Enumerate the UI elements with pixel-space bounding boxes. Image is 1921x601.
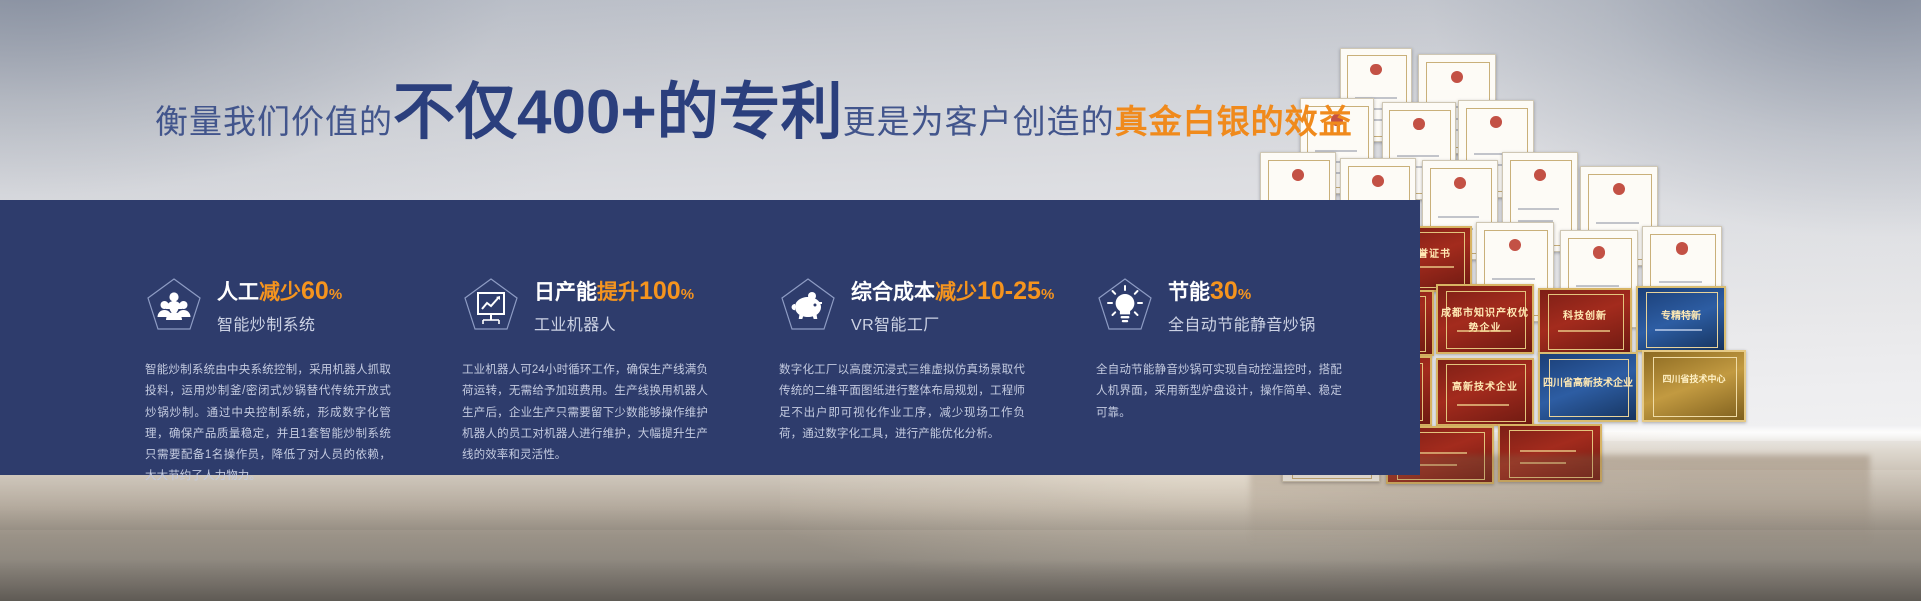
- feature-text: 综合成本减少10-25% VR智能工厂: [851, 275, 1054, 336]
- feature-subtitle: 全自动节能静音炒锅: [1168, 311, 1316, 335]
- feature-title: 人工减少60%: [217, 277, 342, 306]
- award-plaque: 成都市知识产权优势企业: [1436, 284, 1534, 354]
- headline-emphasis: 不仅400+的专利: [393, 78, 843, 147]
- feature-panel: 人工减少60% 智能炒制系统 智能炒制系统由中央系统控制，采用机器人抓取投料，运…: [0, 200, 1420, 475]
- feature-header: 节能30% 全自动节能静音炒锅: [1096, 268, 1351, 342]
- feature-title-prefix: 综合成本: [851, 281, 935, 304]
- feature-title-prefix: 节能: [1168, 281, 1210, 304]
- feature-title: 综合成本减少10-25%: [851, 277, 1054, 306]
- feature-header: 综合成本减少10-25% VR智能工厂: [779, 268, 1034, 342]
- headline-prefix: 衡量我们价值的: [155, 103, 393, 140]
- feature-title-unit: %: [329, 286, 342, 303]
- feature-subtitle: 工业机器人: [534, 311, 694, 335]
- feature-body: 智能炒制系统由中央系统控制，采用机器人抓取投料，运用炒制釜/密闭式炒锅替代传统开…: [145, 360, 391, 488]
- award-plaque: 高新技术企业: [1436, 358, 1534, 426]
- piggy-bank-icon: [779, 276, 837, 334]
- feature-text: 日产能提升100% 工业机器人: [534, 275, 694, 336]
- feature-title-number: 100: [639, 277, 681, 305]
- feature-item-cost: 综合成本减少10-25% VR智能工厂 数字化工厂以高度沉浸式三维虚拟仿真场景取…: [779, 200, 1034, 475]
- feature-item-labor: 人工减少60% 智能炒制系统 智能炒制系统由中央系统控制，采用机器人抓取投料，运…: [145, 200, 400, 475]
- feature-subtitle: VR智能工厂: [851, 311, 1054, 335]
- feature-header: 日产能提升100% 工业机器人: [462, 268, 717, 342]
- award-plaque: 科技创新: [1538, 288, 1632, 354]
- feature-title-unit: %: [681, 286, 694, 303]
- chart-board-icon: [462, 276, 520, 334]
- feature-list: 人工减少60% 智能炒制系统 智能炒制系统由中央系统控制，采用机器人抓取投料，运…: [145, 200, 1400, 475]
- feature-body: 全自动节能静音炒锅可实现自动控温控时，搭配人机界面，采用新型炉盘设计，操作简单、…: [1096, 360, 1342, 424]
- award-plaque: 专精特新: [1636, 286, 1726, 352]
- feature-title-highlight: 减少: [259, 281, 301, 304]
- bottom-shadow: [0, 560, 1921, 601]
- feature-title-number: 30: [1210, 277, 1238, 305]
- feature-item-capacity: 日产能提升100% 工业机器人 工业机器人可24小时循环工作，确保生产线满负荷运…: [462, 200, 717, 475]
- feature-title: 日产能提升100%: [534, 277, 694, 306]
- feature-title-highlight: 减少: [935, 281, 977, 304]
- headline-middle: 更是为客户创造的: [843, 103, 1115, 140]
- feature-text: 人工减少60% 智能炒制系统: [217, 275, 342, 336]
- feature-title-highlight: 提升: [597, 281, 639, 304]
- feature-title-unit: %: [1041, 286, 1054, 303]
- page-headline: 衡量我们价值的不仅400+的专利更是为客户创造的真金白银的效益: [155, 82, 1353, 144]
- feature-title-number: 10-25: [977, 277, 1041, 305]
- feature-title-number: 60: [301, 277, 329, 305]
- headline-accent: 真金白银的效益: [1115, 103, 1353, 140]
- feature-title: 节能30%: [1168, 277, 1316, 306]
- feature-title-unit: %: [1238, 286, 1251, 303]
- banner-root: 荣誉证书 自主创新 成都市知识产权优势企业 科技创新 专精特新 四川省企业技术中…: [0, 0, 1921, 601]
- light-bulb-icon: [1096, 276, 1154, 334]
- feature-title-prefix: 日产能: [534, 281, 597, 304]
- people-group-icon: [145, 276, 203, 334]
- feature-body: 数字化工厂以高度沉浸式三维虚拟仿真场景取代传统的二维平面图纸进行整体布局规划，工…: [779, 360, 1025, 445]
- award-plaque: 四川省高新技术企业: [1538, 352, 1638, 422]
- feature-item-energy: 节能30% 全自动节能静音炒锅 全自动节能静音炒锅可实现自动控温控时，搭配人机界…: [1096, 200, 1351, 475]
- feature-title-prefix: 人工: [217, 281, 259, 304]
- feature-body: 工业机器人可24小时循环工作，确保生产线满负荷运转，无需给予加班费用。生产线换用…: [462, 360, 708, 466]
- award-plaque: 四川省技术中心: [1642, 350, 1746, 422]
- feature-text: 节能30% 全自动节能静音炒锅: [1168, 275, 1316, 336]
- feature-subtitle: 智能炒制系统: [217, 311, 342, 335]
- feature-header: 人工减少60% 智能炒制系统: [145, 268, 400, 342]
